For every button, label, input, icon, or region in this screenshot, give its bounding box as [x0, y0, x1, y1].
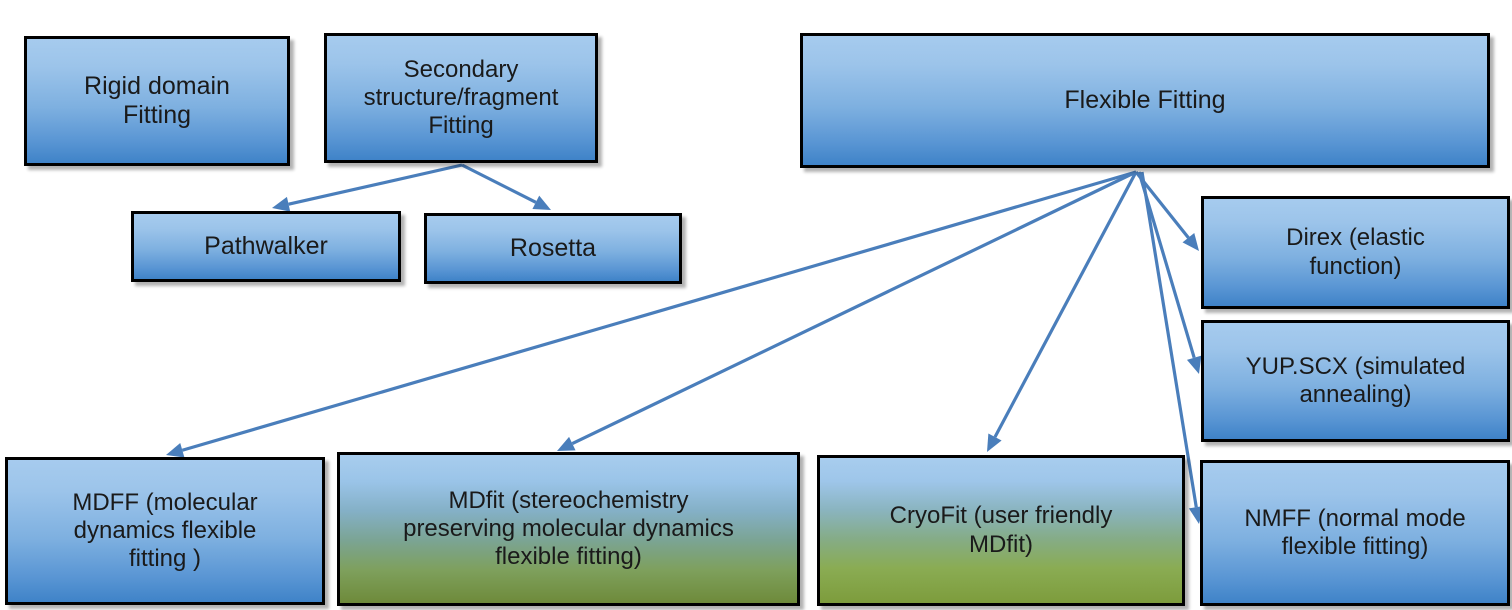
edge-flexible-to-direx-line	[1136, 172, 1188, 238]
node-mdff[interactable]: MDFF (molecular dynamics flexible fittin…	[5, 457, 325, 605]
edge-secondary-to-rosetta	[462, 165, 551, 210]
edge-flexible-to-cryofit	[987, 172, 1136, 452]
edge-flexible-to-direx-head	[1183, 233, 1199, 251]
node-mdfit[interactable]: MDfit (stereochemistry preserving molecu…	[337, 452, 800, 606]
edge-secondary-to-pathwalker-line	[289, 165, 462, 204]
node-direx[interactable]: Direx (elastic function)	[1201, 196, 1510, 309]
edge-secondary-to-pathwalker-head	[272, 197, 290, 212]
node-cryofit[interactable]: CryoFit (user friendly MDfit)	[817, 455, 1185, 606]
node-yup-scx[interactable]: YUP.SCX (simulated annealing)	[1201, 320, 1510, 442]
edge-flexible-to-yupscx	[1139, 172, 1201, 374]
node-rosetta[interactable]: Rosetta	[424, 213, 682, 284]
edge-flexible-to-direx	[1136, 172, 1199, 251]
node-flexible-fitting[interactable]: Flexible Fitting	[800, 33, 1490, 168]
node-pathwalker[interactable]: Pathwalker	[131, 211, 401, 282]
edge-secondary-to-rosetta-head	[532, 196, 551, 210]
edge-flexible-to-mdff-head	[166, 443, 184, 457]
edge-flexible-to-cryofit-head	[987, 433, 1002, 452]
node-rigid-domain-fitting[interactable]: Rigid domain Fitting	[24, 36, 290, 166]
edge-secondary-to-rosetta-line	[462, 165, 536, 202]
edge-flexible-to-yupscx-line	[1139, 172, 1194, 358]
node-secondary-structure-fragment-fitting[interactable]: Secondary structure/fragment Fitting	[324, 33, 598, 163]
edge-secondary-to-pathwalker	[272, 165, 462, 212]
diagram-canvas: Rigid domain FittingSecondary structure/…	[0, 0, 1512, 610]
edge-flexible-to-mdfit-head	[557, 437, 576, 451]
edge-flexible-to-cryofit-line	[995, 172, 1136, 437]
edge-flexible-to-yupscx-head	[1187, 356, 1201, 374]
node-nmff[interactable]: NMFF (normal mode flexible fitting)	[1200, 460, 1510, 606]
